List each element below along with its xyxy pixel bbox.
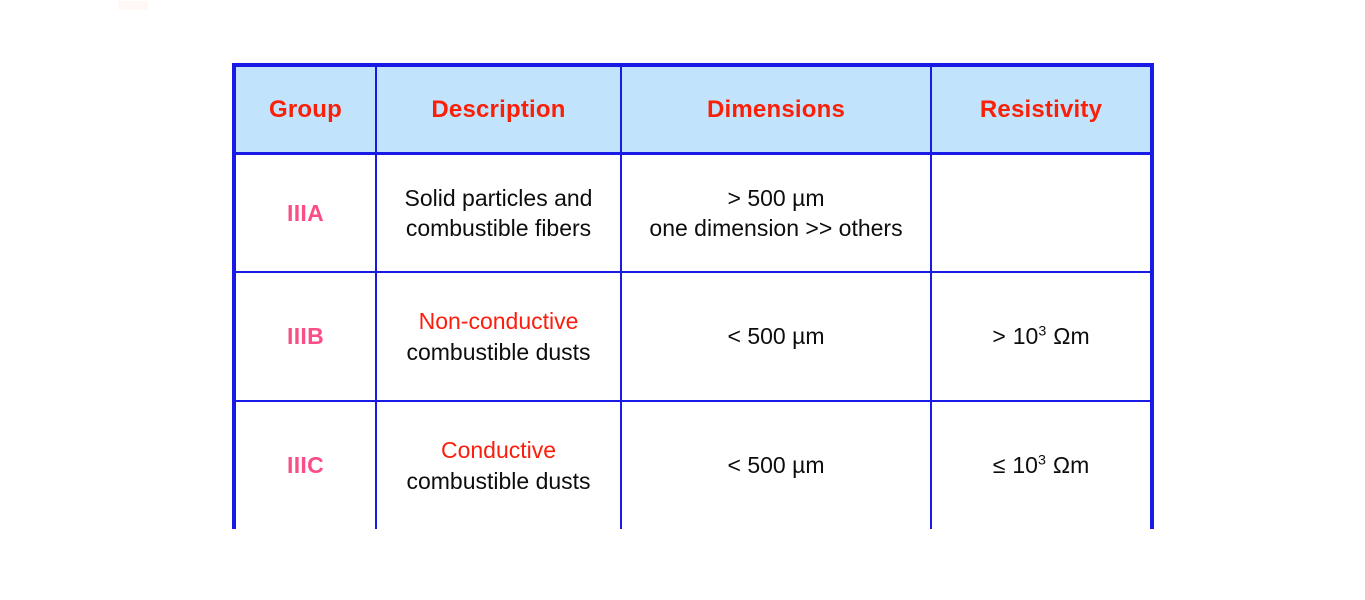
group-label: IIIC [287, 452, 324, 478]
column-header-resistivity: Resistivity [931, 67, 1150, 154]
cell-description-iiic: Conductive combustible dusts [376, 401, 621, 529]
table-header-row: Group Description Dimensions Resistivity [236, 67, 1150, 154]
resistivity-exponent: 3 [1038, 324, 1046, 340]
cell-dimensions-iiic: < 500 µm [621, 401, 931, 529]
column-header-description: Description [376, 67, 621, 154]
slide-canvas: Group Description Dimensions Resistivity… [0, 0, 1365, 600]
group-label: IIIA [287, 200, 324, 226]
table-row: IIIB Non-conductive combustible dusts < … [236, 272, 1150, 401]
resistivity-operator: > [992, 323, 1005, 349]
dust-group-classification-table: Group Description Dimensions Resistivity… [236, 67, 1150, 529]
cell-group-iiia: IIIA [236, 154, 376, 273]
resistivity-value: >103Ωm [992, 323, 1089, 349]
cell-group-iiic: IIIC [236, 401, 376, 529]
cell-resistivity-iiib: >103Ωm [931, 272, 1150, 401]
description-accent: Conductive [385, 435, 612, 465]
column-header-dimensions: Dimensions [621, 67, 931, 154]
page-artifact [118, 1, 148, 10]
cell-dimensions-iiia: > 500 µm one dimension >> others [621, 154, 931, 273]
dimensions-line-1: < 500 µm [630, 450, 922, 480]
description-line-1: Solid particles and [385, 183, 612, 213]
resistivity-value: ≤103Ωm [993, 452, 1090, 478]
table-header: Group Description Dimensions Resistivity [236, 67, 1150, 154]
group-label: IIIB [287, 323, 324, 349]
cell-dimensions-iiib: < 500 µm [621, 272, 931, 401]
resistivity-unit: Ωm [1053, 323, 1089, 349]
resistivity-exponent: 3 [1038, 453, 1046, 469]
resistivity-operator: ≤ [993, 452, 1006, 478]
cell-group-iiib: IIIB [236, 272, 376, 401]
description-line-2: combustible dusts [385, 466, 612, 496]
description-line-2: combustible dusts [385, 337, 612, 367]
cell-description-iiia: Solid particles and combustible fibers [376, 154, 621, 273]
dimensions-line-2: one dimension >> others [630, 213, 922, 243]
description-line-2: combustible fibers [385, 213, 612, 243]
table-row: IIIC Conductive combustible dusts < 500 … [236, 401, 1150, 529]
dimensions-line-1: < 500 µm [630, 321, 922, 351]
dimensions-line-1: > 500 µm [630, 183, 922, 213]
cell-description-iiib: Non-conductive combustible dusts [376, 272, 621, 401]
classification-table-container: Group Description Dimensions Resistivity… [232, 63, 1154, 529]
resistivity-unit: Ωm [1053, 452, 1089, 478]
description-accent: Non-conductive [385, 306, 612, 336]
table-row: IIIA Solid particles and combustible fib… [236, 154, 1150, 273]
cell-resistivity-iiic: ≤103Ωm [931, 401, 1150, 529]
resistivity-base: 10 [1012, 452, 1038, 478]
resistivity-base: 10 [1013, 323, 1039, 349]
cell-resistivity-iiia [931, 154, 1150, 273]
table-body: IIIA Solid particles and combustible fib… [236, 154, 1150, 530]
column-header-group: Group [236, 67, 376, 154]
